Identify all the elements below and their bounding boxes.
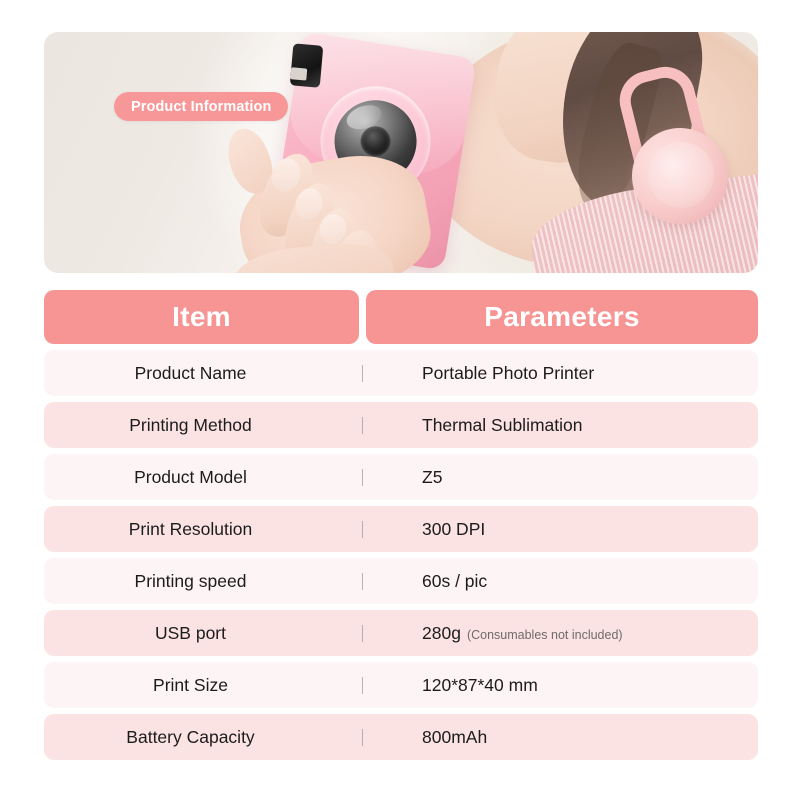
- separator-bar: [362, 417, 363, 434]
- row-separator: [359, 625, 366, 642]
- separator-bar: [362, 365, 363, 382]
- row-label: Print Resolution: [44, 519, 359, 540]
- row-value-text: 60s / pic: [422, 571, 487, 591]
- row-value: 300 DPI: [366, 519, 758, 540]
- row-value-text: Thermal Sublimation: [422, 415, 582, 435]
- row-label: Print Size: [44, 675, 359, 696]
- row-label: Printing Method: [44, 415, 359, 436]
- separator-bar: [362, 677, 363, 694]
- camera-viewfinder: [290, 43, 324, 87]
- separator-bar: [362, 729, 363, 746]
- row-value: 60s / pic: [366, 571, 758, 592]
- row-value-text: Portable Photo Printer: [422, 363, 594, 383]
- product-banner: Product Information: [44, 32, 758, 273]
- table-row: Printing MethodThermal Sublimation: [44, 402, 758, 448]
- row-value-text: 280g: [422, 623, 461, 643]
- table-row: USB port280g(Consumables not included): [44, 610, 758, 656]
- row-value: 120*87*40 mm: [366, 675, 758, 696]
- row-value: 800mAh: [366, 727, 758, 748]
- row-label: USB port: [44, 623, 359, 644]
- row-label: Printing speed: [44, 571, 359, 592]
- camera-viewfinder-glass: [290, 67, 307, 80]
- separator-bar: [362, 573, 363, 590]
- row-separator: [359, 521, 366, 538]
- table-row: Printing speed60s / pic: [44, 558, 758, 604]
- row-label: Battery Capacity: [44, 727, 359, 748]
- separator-bar: [362, 625, 363, 642]
- row-separator: [359, 417, 366, 434]
- row-value: Portable Photo Printer: [366, 363, 758, 384]
- row-value: Thermal Sublimation: [366, 415, 758, 436]
- table-body: Product NamePortable Photo PrinterPrinti…: [44, 350, 758, 760]
- row-label: Product Model: [44, 467, 359, 488]
- row-value-text: 300 DPI: [422, 519, 485, 539]
- row-separator: [359, 677, 366, 694]
- table-row: Print Resolution300 DPI: [44, 506, 758, 552]
- separator-bar: [362, 521, 363, 538]
- table-row: Product ModelZ5: [44, 454, 758, 500]
- column-header-item: Item: [44, 290, 359, 344]
- row-separator: [359, 469, 366, 486]
- table-row: Product NamePortable Photo Printer: [44, 350, 758, 396]
- table-row: Print Size120*87*40 mm: [44, 662, 758, 708]
- row-value-text: Z5: [422, 467, 442, 487]
- table-row: Battery Capacity800mAh: [44, 714, 758, 760]
- row-value-text: 120*87*40 mm: [422, 675, 538, 695]
- specification-table: Item Parameters Product NamePortable Pho…: [44, 290, 758, 766]
- separator-bar: [362, 469, 363, 486]
- row-value-text: 800mAh: [422, 727, 487, 747]
- row-separator: [359, 729, 366, 746]
- table-header-row: Item Parameters: [44, 290, 758, 344]
- product-information-badge: Product Information: [114, 92, 288, 121]
- row-value: 280g(Consumables not included): [366, 623, 758, 644]
- column-header-parameters: Parameters: [366, 290, 758, 344]
- row-separator: [359, 365, 366, 382]
- row-value: Z5: [366, 467, 758, 488]
- row-separator: [359, 573, 366, 590]
- row-label: Product Name: [44, 363, 359, 384]
- row-value-note: (Consumables not included): [467, 628, 623, 642]
